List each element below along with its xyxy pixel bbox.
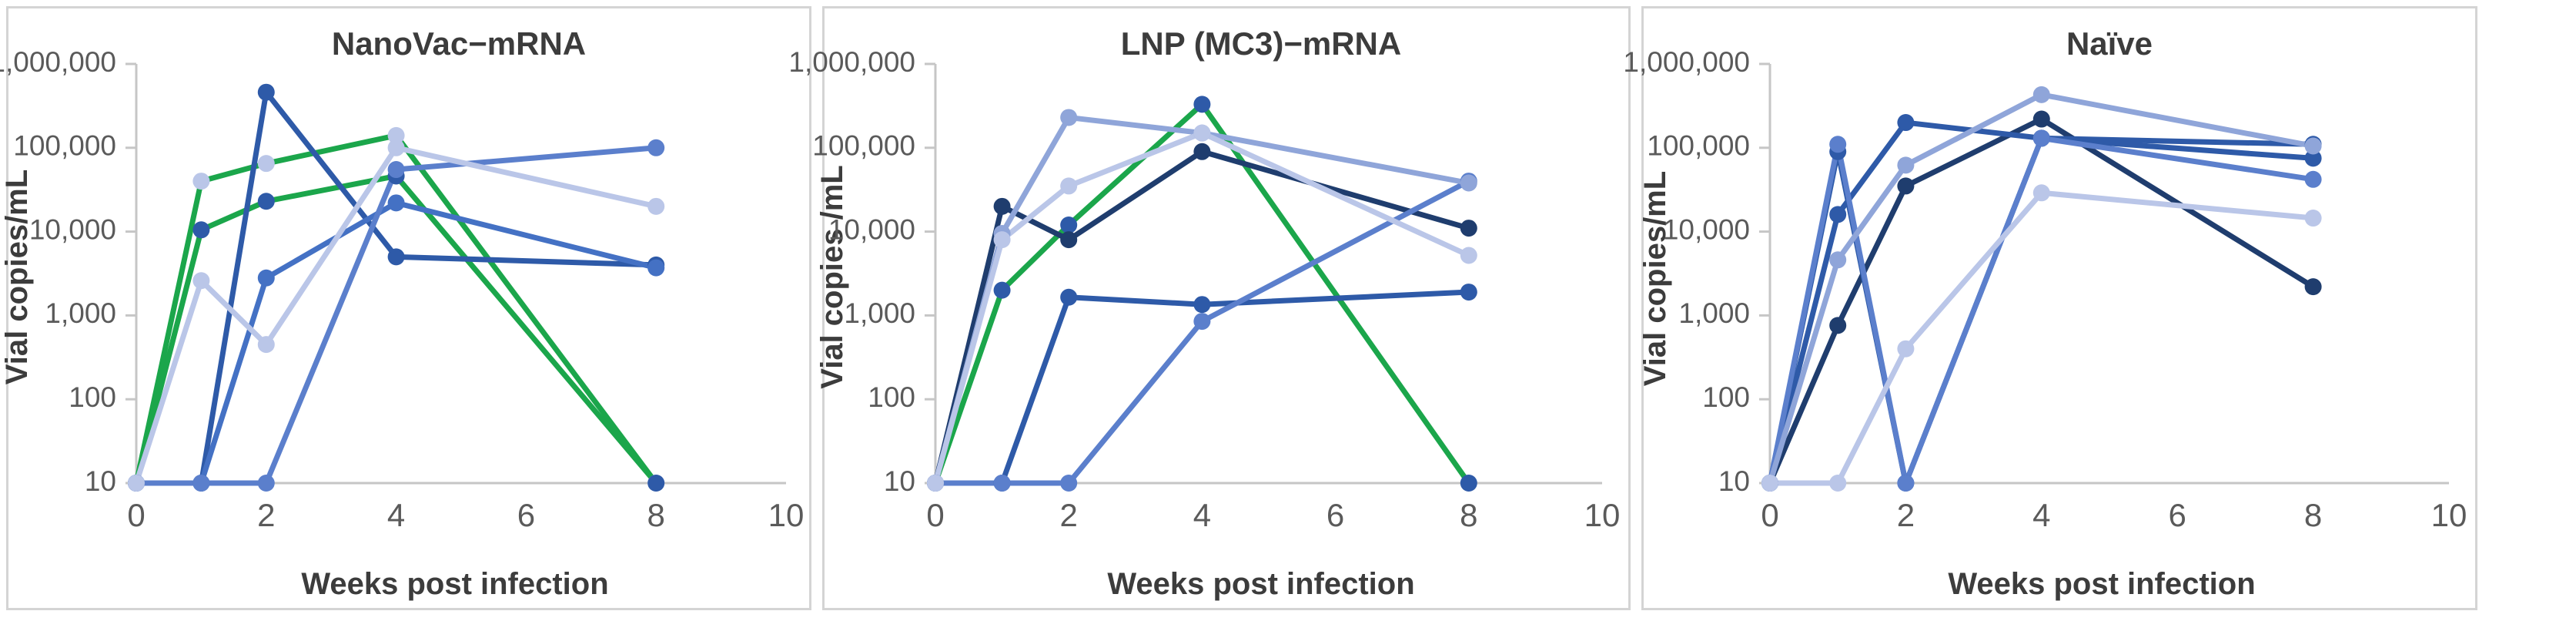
data-point-marker bbox=[2305, 137, 2322, 154]
data-point-marker bbox=[258, 193, 275, 210]
data-point-marker bbox=[1897, 341, 1914, 357]
x-tick-label: 4 bbox=[2032, 497, 2050, 533]
data-point-marker bbox=[1897, 475, 1914, 492]
x-tick-label: 4 bbox=[387, 497, 405, 533]
x-tick-label: 10 bbox=[768, 497, 805, 533]
data-point-marker bbox=[1193, 96, 1210, 112]
data-point-marker bbox=[1829, 317, 1846, 334]
data-point-marker bbox=[1193, 313, 1210, 330]
y-tick-label: 10,000 bbox=[828, 213, 915, 245]
data-point-marker bbox=[2305, 278, 2322, 295]
y-tick-label: 10 bbox=[884, 465, 915, 497]
x-tick-label: 10 bbox=[1584, 497, 1621, 533]
data-point-marker bbox=[258, 155, 275, 172]
panel-lnp-mc3-mrna: LNP (MC3)−mRNA Vial copies /mL 101001,00… bbox=[822, 6, 1631, 610]
data-point-marker bbox=[2305, 210, 2322, 227]
data-point-marker bbox=[192, 475, 209, 492]
y-tick-label: 100,000 bbox=[1647, 130, 1750, 162]
y-tick-label: 1,000,000 bbox=[788, 46, 915, 78]
x-axis-label: Weeks post infection bbox=[1644, 567, 2475, 602]
data-point-marker bbox=[1060, 217, 1077, 233]
y-tick-label: 100,000 bbox=[812, 130, 915, 162]
data-point-marker bbox=[192, 221, 209, 238]
x-tick-label: 2 bbox=[1897, 497, 1915, 533]
data-point-marker bbox=[388, 161, 405, 178]
data-point-marker bbox=[647, 475, 664, 492]
data-point-marker bbox=[647, 139, 664, 156]
plot-svg: 101001,00010,000100,0001,000,0000246810 bbox=[93, 53, 794, 554]
data-point-marker bbox=[1060, 231, 1077, 248]
data-point-marker bbox=[994, 282, 1011, 299]
data-point-marker bbox=[258, 336, 275, 353]
x-tick-label: 8 bbox=[647, 497, 665, 533]
data-point-marker bbox=[1193, 296, 1210, 313]
figure-three-panel-viral-load: NanoVac−mRNA Vial copies/mL 101001,00010… bbox=[0, 0, 2576, 621]
x-axis-label: Weeks post infection bbox=[825, 567, 1628, 602]
data-point-marker bbox=[128, 475, 145, 492]
data-point-marker bbox=[1460, 475, 1477, 492]
y-axis-label: Vial copies/mL bbox=[1633, 0, 1679, 608]
data-point-marker bbox=[2305, 171, 2322, 188]
plot-svg: 101001,00010,000100,0001,000,0000246810 bbox=[1727, 53, 2457, 554]
data-point-marker bbox=[2033, 184, 2050, 201]
data-point-marker bbox=[994, 475, 1011, 492]
panel-nanovac-mrna: NanoVac−mRNA Vial copies/mL 101001,00010… bbox=[6, 6, 811, 610]
y-tick-label: 1,000 bbox=[844, 297, 915, 329]
data-point-marker bbox=[258, 84, 275, 101]
data-point-marker bbox=[1060, 177, 1077, 194]
data-point-marker bbox=[192, 173, 209, 190]
data-point-marker bbox=[1829, 475, 1846, 492]
data-point-marker bbox=[994, 231, 1011, 248]
y-tick-label: 10 bbox=[85, 465, 116, 497]
data-point-marker bbox=[927, 475, 944, 492]
x-tick-label: 2 bbox=[257, 497, 275, 533]
data-point-marker bbox=[1829, 251, 1846, 268]
series-line bbox=[136, 203, 656, 483]
data-point-marker bbox=[1897, 114, 1914, 131]
data-point-marker bbox=[1897, 177, 1914, 194]
x-tick-label: 0 bbox=[1761, 497, 1778, 533]
y-axis-label: Vial copies/mL bbox=[0, 0, 41, 608]
y-tick-label: 100,000 bbox=[13, 130, 116, 162]
x-axis-label: Weeks post infection bbox=[8, 567, 809, 602]
data-point-marker bbox=[1761, 475, 1778, 492]
data-point-marker bbox=[1829, 206, 1846, 223]
data-point-marker bbox=[1460, 247, 1477, 264]
y-tick-label: 100 bbox=[868, 381, 915, 413]
data-point-marker bbox=[1460, 175, 1477, 192]
panel-naive: Naïve Vial copies/mL 101001,00010,000100… bbox=[1641, 6, 2477, 610]
y-tick-label: 10,000 bbox=[29, 213, 116, 245]
data-point-marker bbox=[1193, 125, 1210, 142]
data-point-marker bbox=[647, 260, 664, 277]
data-point-marker bbox=[388, 248, 405, 265]
x-tick-label: 0 bbox=[926, 497, 944, 533]
x-tick-label: 6 bbox=[517, 497, 535, 533]
y-tick-label: 10,000 bbox=[1663, 213, 1750, 245]
data-point-marker bbox=[2033, 129, 2050, 146]
data-point-marker bbox=[1193, 143, 1210, 160]
data-point-marker bbox=[1460, 220, 1477, 237]
y-tick-label: 1,000 bbox=[45, 297, 116, 329]
data-point-marker bbox=[647, 198, 664, 215]
x-tick-label: 6 bbox=[2169, 497, 2186, 533]
data-point-marker bbox=[192, 272, 209, 289]
data-point-marker bbox=[1460, 284, 1477, 300]
plot-area: 101001,00010,000100,0001,000,0000246810 bbox=[93, 53, 794, 554]
x-tick-label: 4 bbox=[1193, 497, 1211, 533]
x-tick-label: 6 bbox=[1326, 497, 1344, 533]
y-tick-label: 1,000 bbox=[1678, 297, 1750, 329]
x-tick-label: 8 bbox=[1460, 497, 1477, 533]
data-point-marker bbox=[2033, 111, 2050, 128]
plot-svg: 101001,00010,000100,0001,000,0000246810 bbox=[892, 53, 1610, 554]
data-point-marker bbox=[1060, 109, 1077, 126]
y-tick-label: 100 bbox=[1702, 381, 1750, 413]
plot-area: 101001,00010,000100,0001,000,0000246810 bbox=[892, 53, 1610, 554]
data-point-marker bbox=[1060, 475, 1077, 492]
data-point-marker bbox=[1829, 136, 1846, 153]
x-tick-label: 8 bbox=[2304, 497, 2322, 533]
data-point-marker bbox=[258, 270, 275, 287]
x-tick-label: 0 bbox=[127, 497, 145, 533]
x-tick-label: 10 bbox=[2431, 497, 2467, 533]
data-point-marker bbox=[388, 139, 405, 156]
y-tick-label: 100 bbox=[69, 381, 116, 413]
y-tick-label: 1,000,000 bbox=[1623, 46, 1750, 78]
data-point-marker bbox=[258, 475, 275, 492]
data-point-marker bbox=[388, 194, 405, 211]
series-line bbox=[1770, 119, 2313, 483]
data-point-marker bbox=[994, 198, 1011, 215]
y-tick-label: 1,000,000 bbox=[0, 46, 116, 78]
plot-area: 101001,00010,000100,0001,000,0000246810 bbox=[1727, 53, 2457, 554]
data-point-marker bbox=[1897, 156, 1914, 173]
data-point-marker bbox=[2033, 86, 2050, 103]
y-tick-label: 10 bbox=[1718, 465, 1750, 497]
x-tick-label: 2 bbox=[1060, 497, 1078, 533]
data-point-marker bbox=[1060, 289, 1077, 306]
